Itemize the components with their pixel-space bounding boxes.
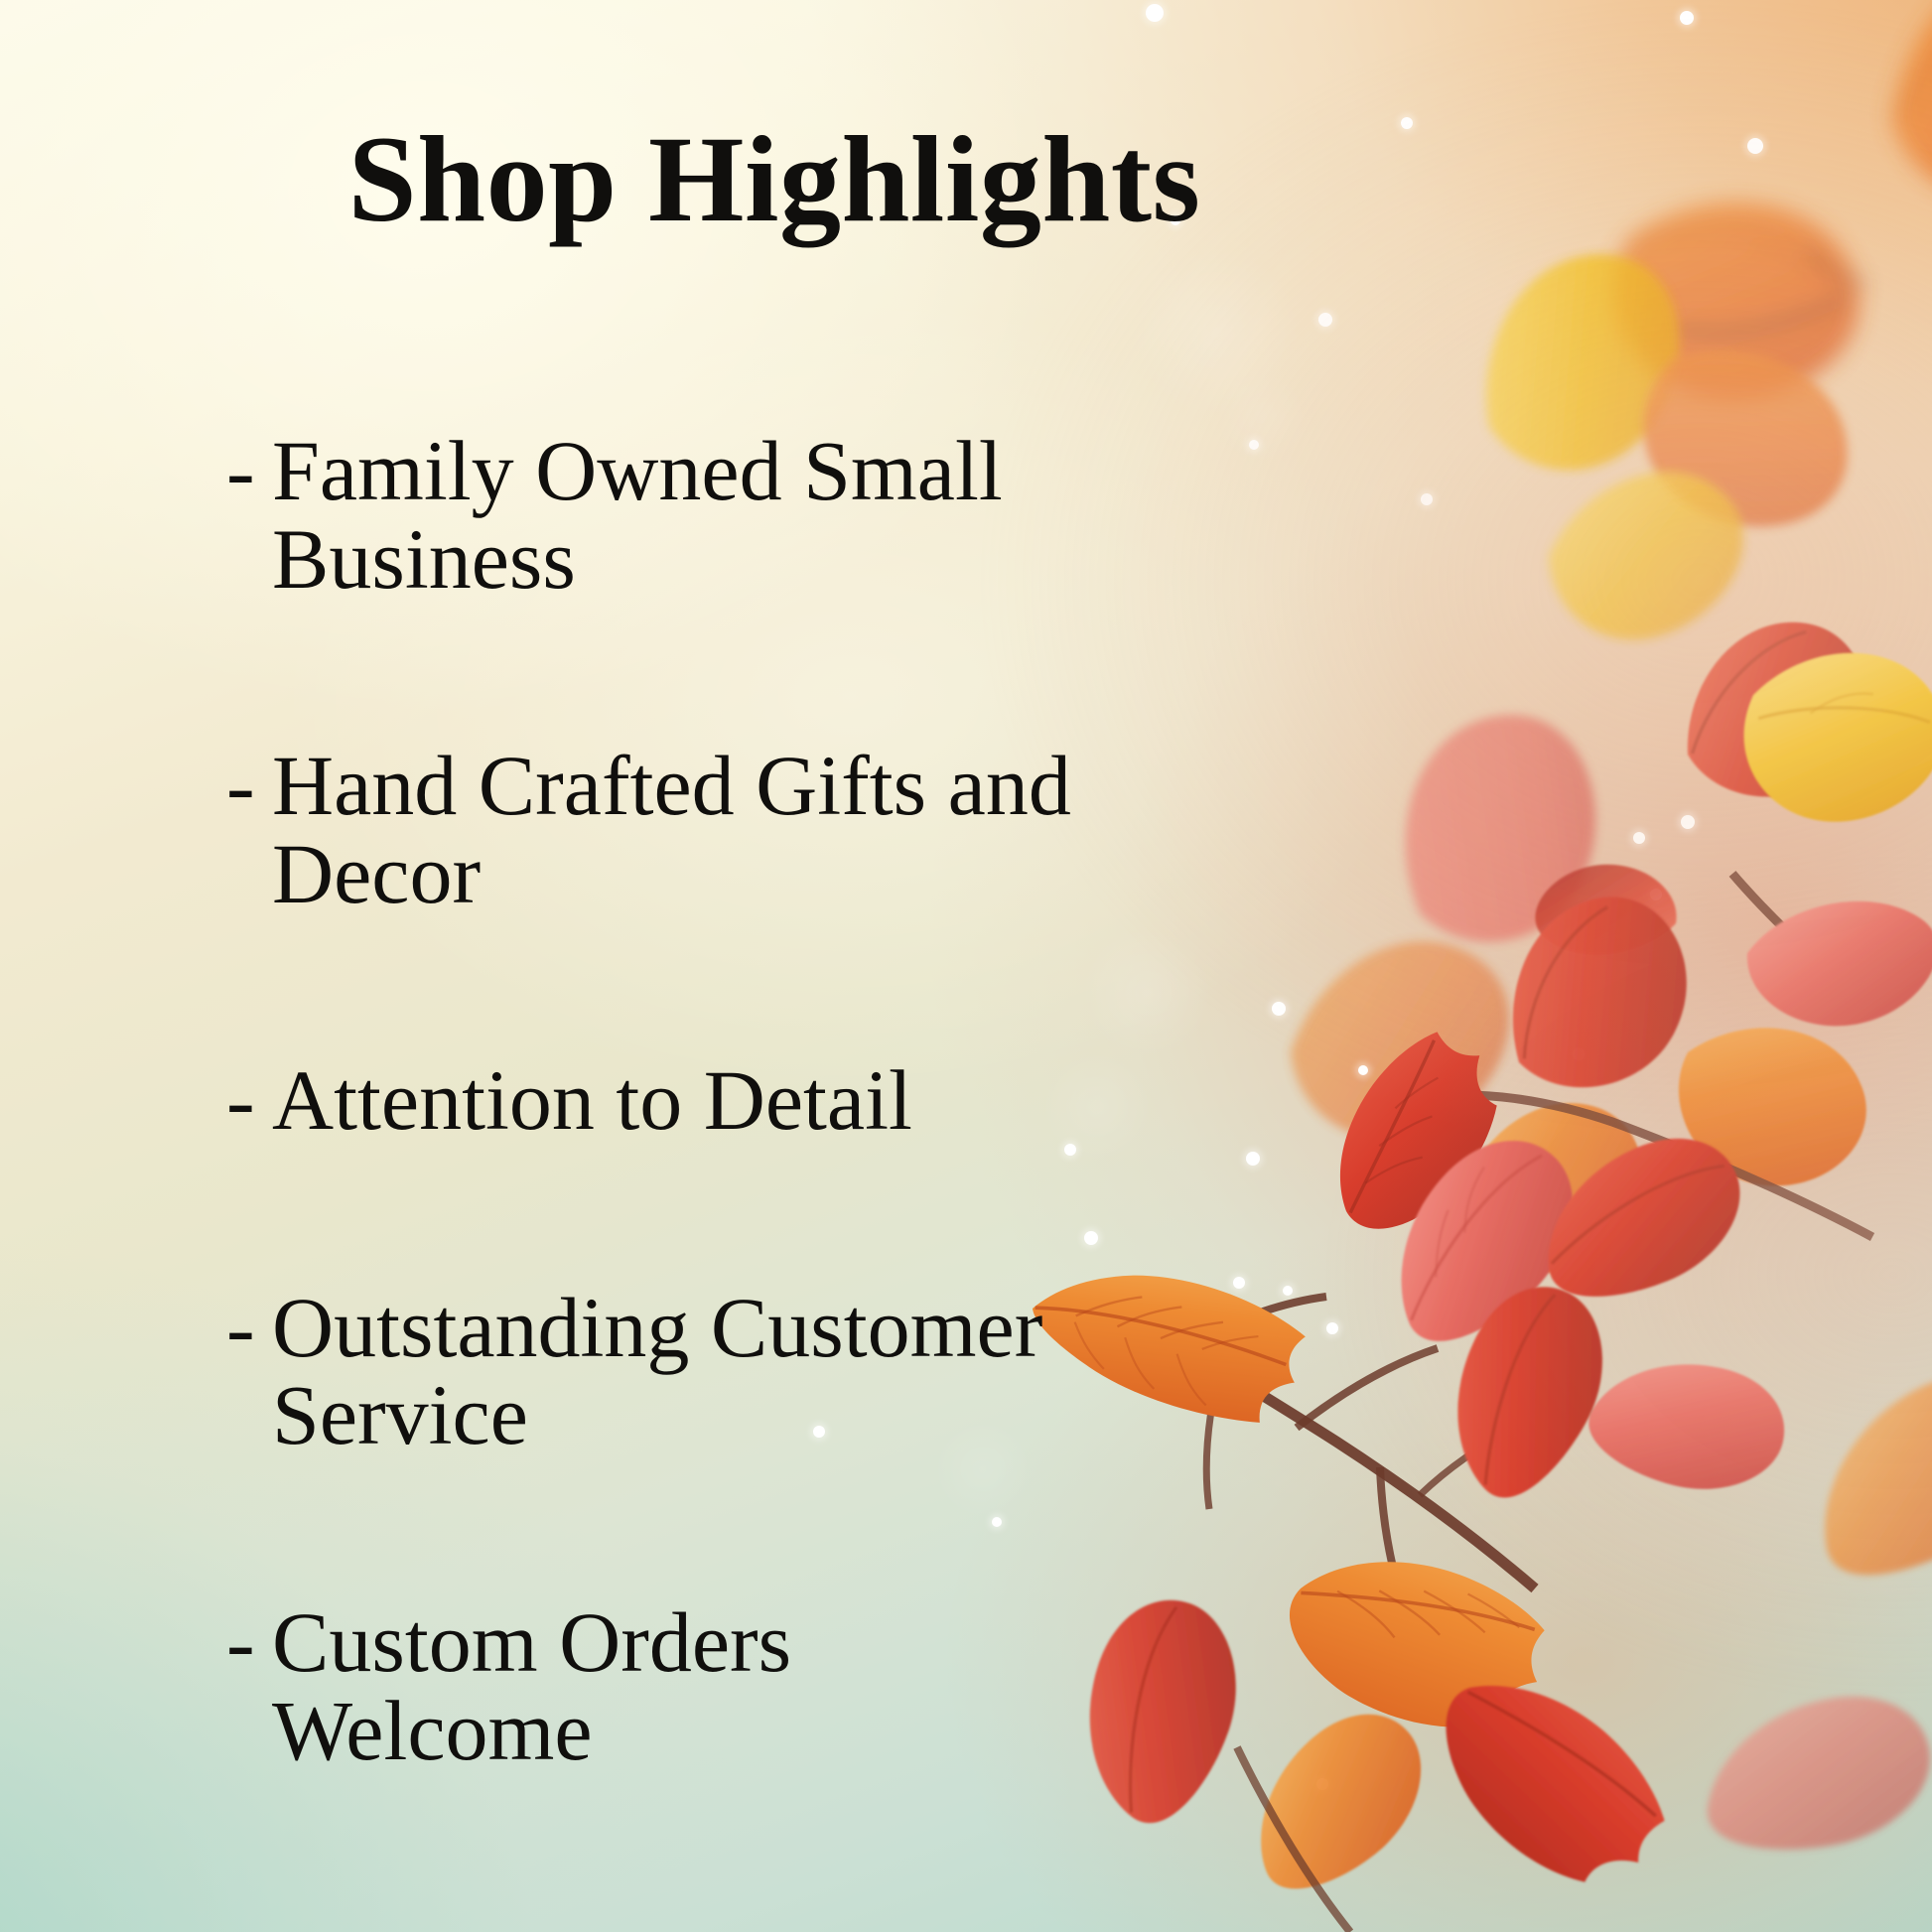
bullet-dash-icon: - (226, 427, 272, 515)
highlight-label: Outstanding Customer Service (272, 1284, 1275, 1459)
bullet-dash-icon: - (226, 1284, 272, 1372)
bullet-dash-icon: - (226, 1598, 272, 1687)
poster-text-content: Shop Highlights - Family Owned Small Bus… (0, 0, 1932, 1932)
highlights-list: - Family Owned Small Business - Hand Cra… (226, 427, 1438, 1774)
highlight-label: Attention to Detail (272, 1056, 1275, 1145)
list-item: - Custom Orders Welcome (226, 1598, 1438, 1774)
highlight-label: Hand Crafted Gifts and Decor (272, 742, 1275, 917)
poster-canvas: Shop Highlights - Family Owned Small Bus… (0, 0, 1932, 1932)
bullet-dash-icon: - (226, 1056, 272, 1145)
highlight-label: Custom Orders Welcome (272, 1598, 1275, 1774)
list-item: - Family Owned Small Business (226, 427, 1438, 603)
list-item: - Hand Crafted Gifts and Decor (226, 742, 1438, 917)
highlight-label: Family Owned Small Business (272, 427, 1275, 603)
page-title: Shop Highlights (0, 115, 1549, 244)
list-item: - Outstanding Customer Service (226, 1284, 1438, 1459)
bullet-dash-icon: - (226, 742, 272, 830)
list-item: - Attention to Detail (226, 1056, 1438, 1145)
